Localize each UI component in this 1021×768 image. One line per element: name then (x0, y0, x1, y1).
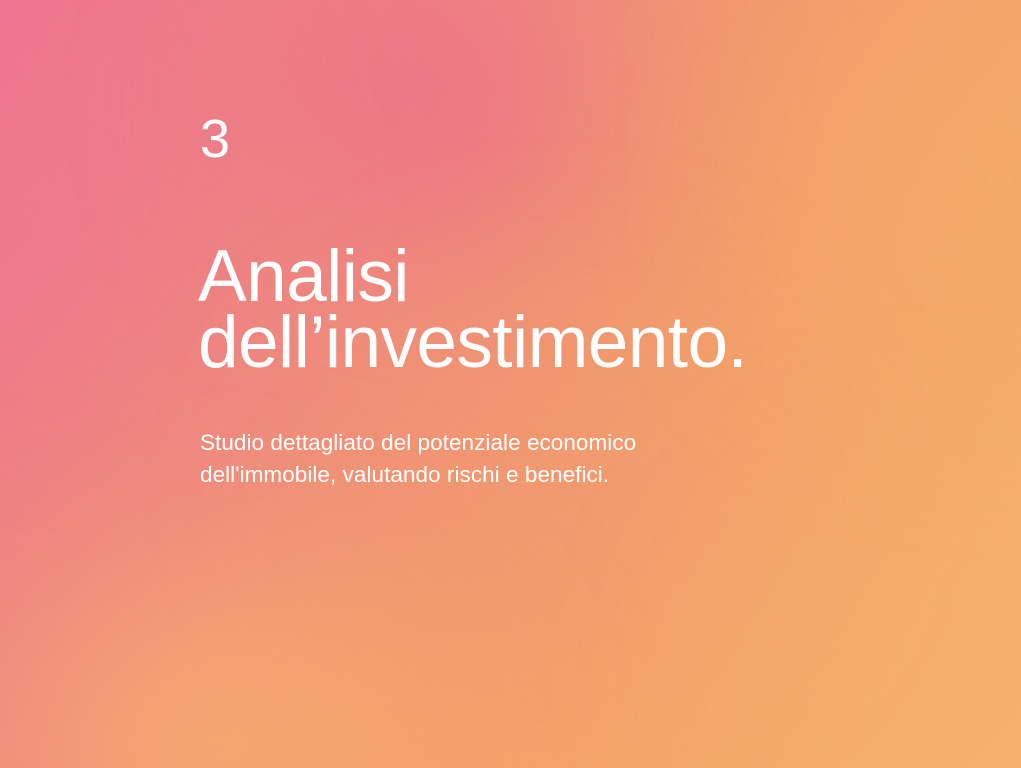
slide-content: 3 Analisi dell’investimento. Studio dett… (200, 0, 960, 768)
section-number: 3 (200, 112, 231, 166)
slide-subtitle: Studio dettagliato del potenziale econom… (200, 427, 636, 491)
slide-title: Analisi dell’investimento. (198, 244, 747, 376)
slide-root: 3 Analisi dell’investimento. Studio dett… (0, 0, 1021, 768)
